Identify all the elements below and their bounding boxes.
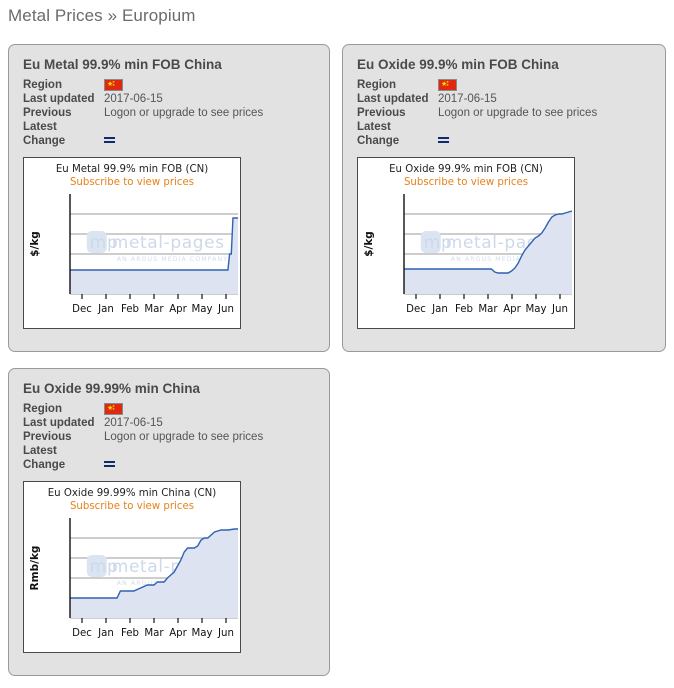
svg-text:Rmb/kg: Rmb/kg <box>29 546 41 591</box>
meta-row-region: Region ★★ <box>357 78 597 92</box>
meta-label-previous: Previous <box>23 106 104 120</box>
meta-label-change: Change <box>23 134 104 148</box>
meta-row-last-updated: Last updated 2017-06-15 <box>357 92 597 106</box>
price-page: Metal Prices » Europium Eu Metal 99.9% m… <box>0 0 674 688</box>
flag-graphic: ★★ <box>104 79 123 91</box>
meta-row-region: Region ★★ <box>23 402 263 416</box>
meta-row-change: Change <box>23 458 263 472</box>
meta-value-previous: Logon or upgrade to see prices <box>438 106 597 120</box>
svg-text:Eu Oxide 99.9% min FOB (CN): Eu Oxide 99.9% min FOB (CN) <box>389 164 543 175</box>
meta-row-change: Change <box>357 134 597 148</box>
meta-label-last-updated: Last updated <box>357 92 438 106</box>
breadcrumb-separator: » <box>108 6 118 25</box>
price-card: Eu Oxide 99.9% min FOB China Region ★★ L… <box>342 44 666 352</box>
svg-text:Jan: Jan <box>97 628 114 639</box>
svg-text:Mar: Mar <box>478 304 498 315</box>
svg-text:Feb: Feb <box>121 304 139 315</box>
price-chart-svg: Eu Oxide 99.99% min China (CN)Subscribe … <box>24 482 240 652</box>
svg-text:Apr: Apr <box>169 304 187 315</box>
price-card-title: Eu Oxide 99.9% min FOB China <box>357 57 559 72</box>
meta-label-region: Region <box>23 78 104 92</box>
meta-row-last-updated: Last updated 2017-06-15 <box>23 92 263 106</box>
flag-graphic: ★★ <box>438 79 457 91</box>
meta-value-last-updated: 2017-06-15 <box>438 92 497 106</box>
svg-text:Apr: Apr <box>503 304 521 315</box>
svg-text:Jan: Jan <box>97 304 114 315</box>
meta-value-last-updated: 2017-06-15 <box>104 92 163 106</box>
meta-row-latest: Latest <box>357 120 597 134</box>
meta-label-region: Region <box>357 78 438 92</box>
svg-text:Subscribe to view prices: Subscribe to view prices <box>70 501 194 512</box>
meta-label-latest: Latest <box>23 120 104 134</box>
price-card: Eu Metal 99.9% min FOB China Region ★★ L… <box>8 44 330 352</box>
china-flag-icon: ★★ <box>104 78 123 92</box>
meta-row-previous: Previous Logon or upgrade to see prices <box>23 106 263 120</box>
svg-text:May: May <box>191 628 212 639</box>
meta-row-region: Region ★★ <box>23 78 263 92</box>
meta-label-last-updated: Last updated <box>23 92 104 106</box>
svg-text:$/kg: $/kg <box>29 231 41 257</box>
svg-text:Mar: Mar <box>144 304 164 315</box>
meta-row-latest: Latest <box>23 444 263 458</box>
meta-label-change: Change <box>357 134 438 148</box>
svg-text:$/kg: $/kg <box>363 231 375 257</box>
meta-row-latest: Latest <box>23 120 263 134</box>
price-card-title: Eu Metal 99.9% min FOB China <box>23 57 222 72</box>
svg-text:Jun: Jun <box>217 628 234 639</box>
svg-text:Dec: Dec <box>72 628 92 639</box>
svg-text:metal-pages: metal-pages <box>112 233 225 253</box>
breadcrumb: Metal Prices » Europium <box>8 6 196 26</box>
price-card-meta: Region ★★ Last updated 2017-06-15 Previo… <box>23 78 263 148</box>
meta-label-previous: Previous <box>23 430 104 444</box>
meta-label-latest: Latest <box>357 120 438 134</box>
equals-icon <box>104 134 115 148</box>
price-chart[interactable]: Eu Oxide 99.99% min China (CN)Subscribe … <box>23 481 241 653</box>
price-chart-svg: Eu Oxide 99.9% min FOB (CN)Subscribe to … <box>358 158 574 328</box>
meta-label-change: Change <box>23 458 104 472</box>
svg-text:Subscribe to view prices: Subscribe to view prices <box>70 177 194 188</box>
meta-value-previous: Logon or upgrade to see prices <box>104 430 263 444</box>
price-chart[interactable]: Eu Metal 99.9% min FOB (CN)Subscribe to … <box>23 157 241 329</box>
svg-text:AN ARGUS MEDIA COMPANY: AN ARGUS MEDIA COMPANY <box>117 256 228 263</box>
svg-text:Feb: Feb <box>121 628 139 639</box>
svg-text:May: May <box>191 304 212 315</box>
meta-row-previous: Previous Logon or upgrade to see prices <box>23 430 263 444</box>
price-chart[interactable]: Eu Oxide 99.9% min FOB (CN)Subscribe to … <box>357 157 575 329</box>
flag-small-stars: ★★ <box>112 405 115 412</box>
equals-icon <box>104 458 115 472</box>
price-card-meta: Region ★★ Last updated 2017-06-15 Previo… <box>23 402 263 472</box>
meta-label-previous: Previous <box>357 106 438 120</box>
china-flag-icon: ★★ <box>104 402 123 416</box>
equals-icon <box>438 134 449 148</box>
svg-text:Dec: Dec <box>406 304 426 315</box>
china-flag-icon: ★★ <box>438 78 457 92</box>
svg-text:Mar: Mar <box>144 628 164 639</box>
meta-value-last-updated: 2017-06-15 <box>104 416 163 430</box>
price-card-meta: Region ★★ Last updated 2017-06-15 Previo… <box>357 78 597 148</box>
price-card: Eu Oxide 99.99% min China Region ★★ Last… <box>8 368 330 676</box>
svg-text:Feb: Feb <box>455 304 473 315</box>
breadcrumb-root[interactable]: Metal Prices <box>8 6 103 25</box>
svg-text:Eu Oxide 99.99% min China (CN): Eu Oxide 99.99% min China (CN) <box>48 488 217 499</box>
meta-label-latest: Latest <box>23 444 104 458</box>
breadcrumb-current: Europium <box>122 6 196 25</box>
svg-text:Jan: Jan <box>431 304 448 315</box>
meta-label-last-updated: Last updated <box>23 416 104 430</box>
svg-text:May: May <box>525 304 546 315</box>
svg-text:Jun: Jun <box>551 304 568 315</box>
meta-label-region: Region <box>23 402 104 416</box>
price-chart-svg: Eu Metal 99.9% min FOB (CN)Subscribe to … <box>24 158 240 328</box>
svg-text:Jun: Jun <box>217 304 234 315</box>
flag-graphic: ★★ <box>104 403 123 415</box>
meta-row-previous: Previous Logon or upgrade to see prices <box>357 106 597 120</box>
flag-small-stars: ★★ <box>446 81 449 88</box>
meta-row-last-updated: Last updated 2017-06-15 <box>23 416 263 430</box>
meta-value-previous: Logon or upgrade to see prices <box>104 106 263 120</box>
svg-text:Subscribe to view prices: Subscribe to view prices <box>404 177 528 188</box>
flag-small-stars: ★★ <box>112 81 115 88</box>
price-card-title: Eu Oxide 99.99% min China <box>23 381 200 396</box>
svg-text:Apr: Apr <box>169 628 187 639</box>
meta-row-change: Change <box>23 134 263 148</box>
svg-text:Eu Metal 99.9% min FOB (CN): Eu Metal 99.9% min FOB (CN) <box>56 164 208 175</box>
svg-text:Dec: Dec <box>72 304 92 315</box>
